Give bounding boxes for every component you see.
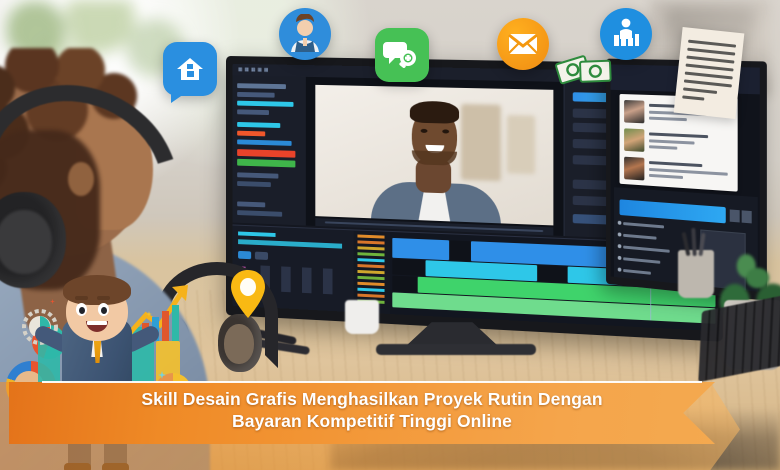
mascot-teeth: [87, 321, 107, 325]
monitor-foot: [376, 344, 536, 355]
list-item[interactable]: [624, 155, 733, 189]
editor-preview-panel: [306, 77, 564, 236]
money-icon[interactable]: [553, 44, 615, 96]
list-item[interactable]: [624, 126, 733, 158]
selected-item-highlight[interactable]: [620, 199, 726, 223]
title-banner: Skill Desain Grafis Menghasilkan Proyek …: [0, 368, 780, 470]
avatar: [624, 100, 644, 123]
chat-search-icon[interactable]: [375, 28, 429, 82]
mail-icon[interactable]: [497, 18, 549, 70]
hero-image: ▦ ▦ ▦ ▦ ▦: [0, 0, 780, 470]
mascot-hair: [63, 275, 131, 305]
video-call-preview: [315, 85, 553, 226]
avatar: [624, 157, 644, 181]
avatar: [624, 128, 644, 152]
document-icon[interactable]: [674, 27, 745, 119]
location-pin-icon[interactable]: [228, 268, 268, 320]
bar-chart-person-icon[interactable]: [600, 8, 652, 60]
user-avatar-icon[interactable]: [279, 8, 331, 60]
coffee-cup: [345, 300, 379, 334]
banner-title-line-1: Skill Desain Grafis Menghasilkan Proyek …: [62, 388, 682, 410]
worn-headphones-earpad: [0, 210, 52, 274]
banner-title-line-2: Bayaran Kompetitif Tinggi Online: [62, 410, 682, 432]
banner-title: Skill Desain Grafis Menghasilkan Proyek …: [62, 388, 682, 432]
home-icon[interactable]: [163, 42, 217, 96]
pen-holder: [678, 250, 714, 298]
banner-rule: [42, 381, 702, 383]
